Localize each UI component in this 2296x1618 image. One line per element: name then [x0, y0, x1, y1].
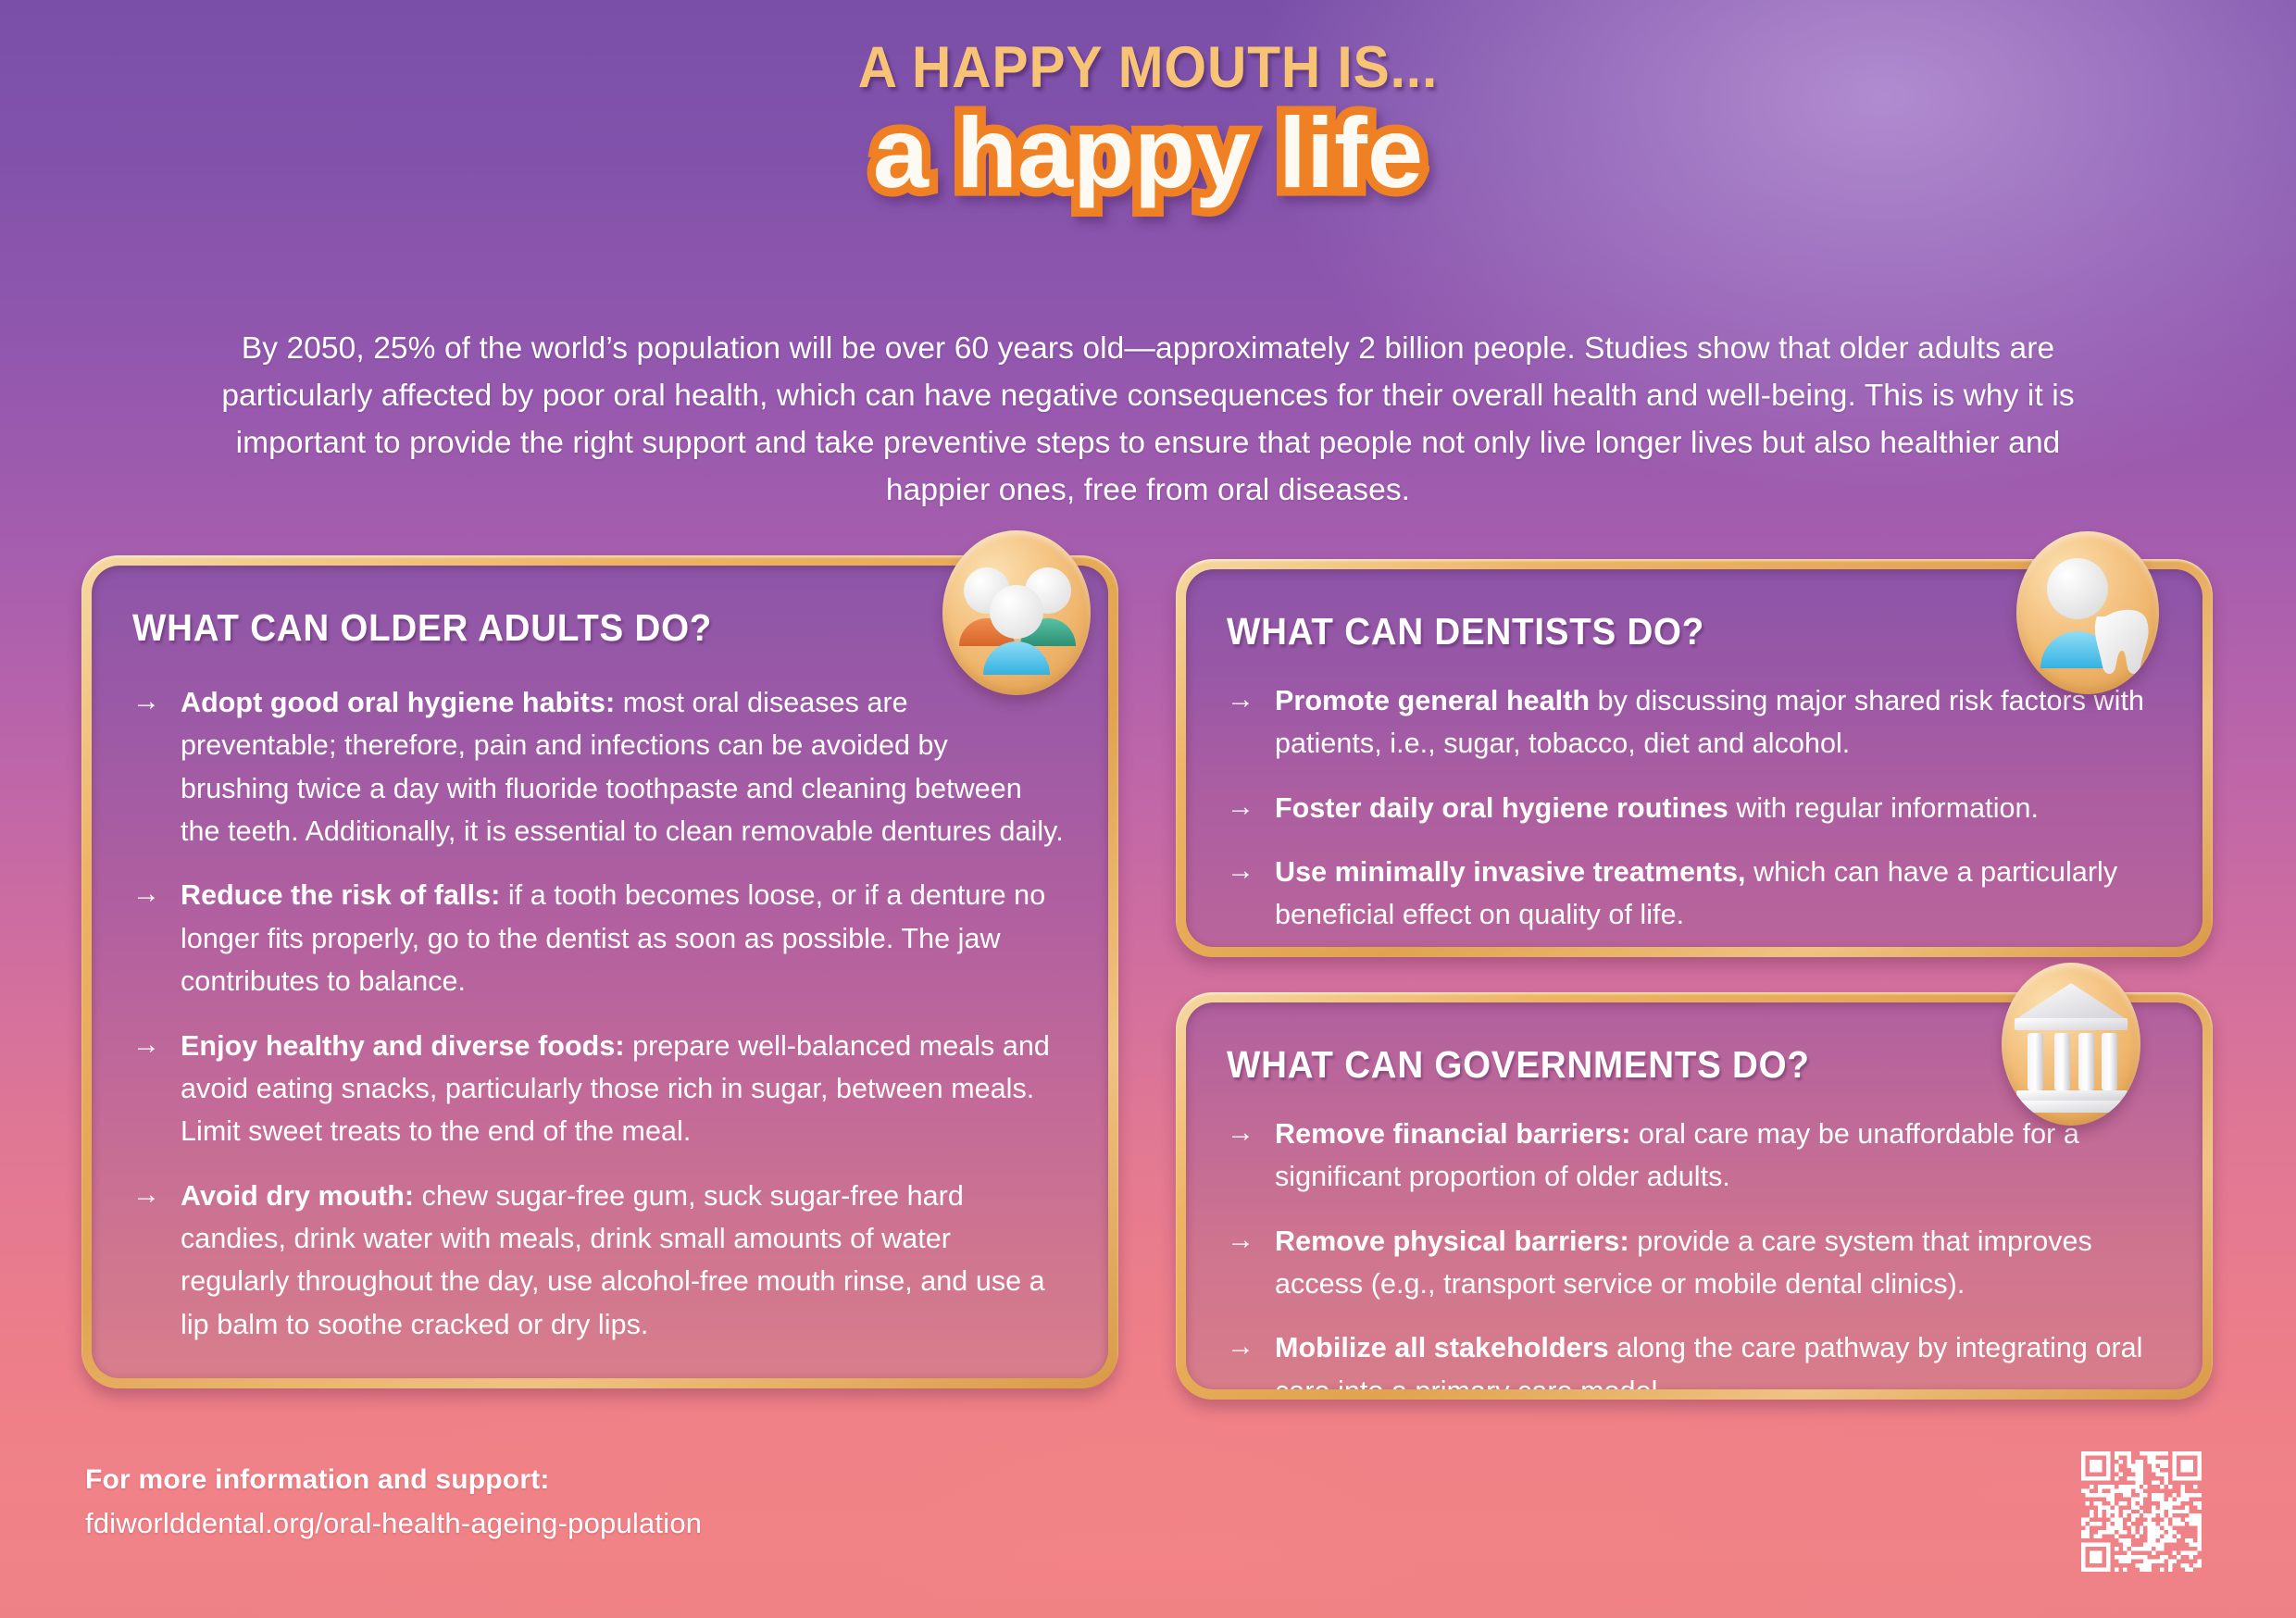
arrow-icon: → — [132, 873, 160, 915]
header-kicker: A HAPPY MOUTH IS... — [81, 39, 2215, 97]
three-people-icon — [942, 530, 1091, 695]
infographic-poster: A HAPPY MOUTH IS... a happy life By 2050… — [0, 0, 2296, 1618]
card-governments-list: →Remove financial barriers: oral care ma… — [1227, 1113, 2158, 1389]
card-older-adults-title: WHAT CAN OLDER ADULTS DO? — [132, 606, 1008, 650]
arrow-icon: → — [1227, 850, 1254, 892]
arrow-icon: → — [1227, 678, 1254, 721]
footer-label: For more information and support: — [85, 1464, 702, 1496]
dentist-tooth-icon — [2016, 531, 2159, 694]
card-dentists-list: →Promote general health by discussing ma… — [1227, 679, 2158, 937]
list-item: →Foster daily oral hygiene routines with… — [1227, 787, 2158, 829]
list-item: →Enjoy healthy and diverse foods: prepar… — [132, 1025, 1064, 1153]
bullet-lead: Enjoy healthy and diverse foods: — [181, 1030, 625, 1062]
arrow-icon: → — [1227, 1219, 1254, 1262]
list-item: →Adopt good oral hygiene habits: most or… — [132, 681, 1064, 853]
card-governments-title: WHAT CAN GOVERNMENTS DO? — [1227, 1043, 2103, 1087]
bullet-lead: Remove physical barriers: — [1275, 1226, 1629, 1257]
bullet-lead: Remove financial barriers: — [1275, 1118, 1630, 1150]
list-item: →Reduce the risk of falls: if a tooth be… — [132, 874, 1064, 1002]
bullet-lead: Avoid dry mouth: — [181, 1180, 414, 1212]
bullet-lead: Mobilize all stakeholders — [1275, 1332, 1609, 1363]
footer-url[interactable]: fdiworlddental.org/oral-health-ageing-po… — [85, 1507, 702, 1540]
bullet-lead: Reduce the risk of falls: — [181, 879, 500, 911]
bullet-lead: Foster daily oral hygiene routines — [1275, 792, 1728, 824]
list-item: →Use minimally invasive treatments, whic… — [1227, 851, 2158, 937]
footer: For more information and support: fdiwor… — [85, 1464, 702, 1540]
list-item: →Remove physical barriers: provide a car… — [1227, 1220, 2158, 1306]
arrow-icon: → — [132, 1174, 160, 1216]
arrow-icon: → — [1227, 1112, 1254, 1154]
intro-paragraph: By 2050, 25% of the world’s population w… — [185, 326, 2111, 515]
qr-code-icon[interactable] — [2081, 1451, 2202, 1572]
bullet-lead: Promote general health — [1275, 685, 1590, 716]
arrow-icon: → — [1227, 786, 1254, 828]
bullet-lead: Use minimally invasive treatments, — [1275, 856, 1746, 888]
card-older-adults-list: →Adopt good oral hygiene habits: most or… — [132, 681, 1064, 1346]
bullet-rest: with regular information. — [1728, 792, 2039, 824]
arrow-icon: → — [1227, 1326, 1254, 1368]
arrow-icon: → — [132, 680, 160, 723]
list-item: →Avoid dry mouth: chew sugar-free gum, s… — [132, 1175, 1064, 1346]
list-item: →Mobilize all stakeholders along the car… — [1227, 1326, 2158, 1389]
poster-header: A HAPPY MOUTH IS... a happy life — [0, 39, 2296, 203]
arrow-icon: → — [132, 1024, 160, 1066]
header-logo-title: a happy life — [0, 103, 2296, 203]
bullet-lead: Adopt good oral hygiene habits: — [181, 687, 615, 718]
government-building-icon — [2002, 963, 2140, 1126]
card-dentists-title: WHAT CAN DENTISTS DO? — [1227, 610, 2103, 653]
